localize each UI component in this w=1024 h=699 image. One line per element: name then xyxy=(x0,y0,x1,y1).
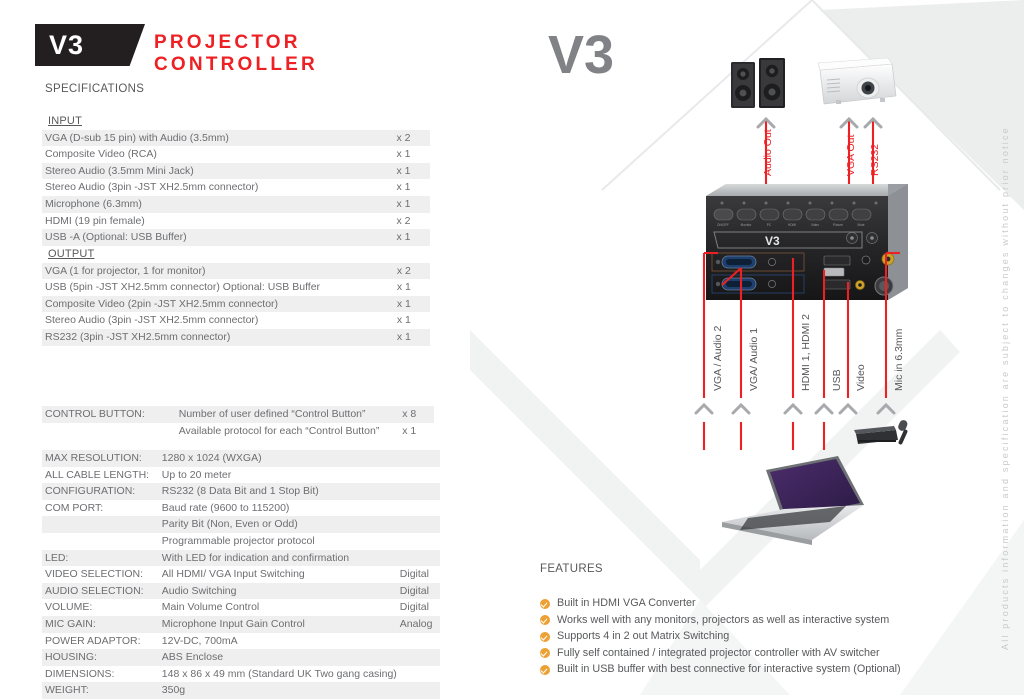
table-row: MAX RESOLUTION:1280 x 1024 (WXGA) xyxy=(42,450,440,467)
spec-quantity: x 1 xyxy=(394,179,431,196)
svg-text:HDMI: HDMI xyxy=(788,223,796,227)
spec-description: Microphone Input Gain Control xyxy=(159,616,397,633)
control-button-table: CONTROL BUTTON:Number of user defined “C… xyxy=(42,406,434,439)
table-row: VGA (1 for projector, 1 for monitor)x 2 xyxy=(42,263,430,280)
spec-description: Number of user defined “Control Button” xyxy=(176,406,400,423)
disclaimer-text: All products information and specificati… xyxy=(1000,126,1010,650)
check-icon xyxy=(540,648,550,658)
group-header-row: INPUT xyxy=(42,113,430,130)
table-row: CONTROL BUTTON:Number of user defined “C… xyxy=(42,406,434,423)
spec-key xyxy=(42,516,159,533)
table-row: Stereo Audio (3pin -JST XH2.5mm connecto… xyxy=(42,312,430,329)
spec-tag xyxy=(397,516,440,533)
feature-item: Built in USB buffer with best connective… xyxy=(540,661,1010,678)
group-header-row: OUTPUT xyxy=(42,246,430,263)
output-arrows xyxy=(758,119,881,127)
output-label-1: VGA Out xyxy=(845,135,857,176)
table-row: VGA (D-sub 15 pin) with Audio (3.5mm)x 2 xyxy=(42,130,430,147)
output-label-0: Audio Out xyxy=(762,129,774,176)
brand-logo: V3 PROJECTOR CONTROLLER xyxy=(35,24,435,66)
spec-quantity: x 1 xyxy=(394,163,431,180)
spec-tag: Analog xyxy=(397,616,440,633)
table-row: VIDEO SELECTION:All HDMI/ VGA Input Swit… xyxy=(42,566,440,583)
spec-tag xyxy=(397,550,440,567)
spec-description: VGA (1 for projector, 1 for monitor) xyxy=(42,263,394,280)
input-label-3: USB xyxy=(831,369,843,391)
product-title: PROJECTOR CONTROLLER xyxy=(154,32,435,76)
table-row: Stereo Audio (3pin -JST XH2.5mm connecto… xyxy=(42,179,430,196)
feature-item: Works well with any monitors, projectors… xyxy=(540,612,1010,629)
spec-description: Baud rate (9600 to 115200) xyxy=(159,500,397,517)
table-row: Composite Video (2pin -JST XH2.5mm conne… xyxy=(42,296,430,313)
laptop-icon xyxy=(722,456,864,560)
input-label-5: Mic in 6.3mm xyxy=(893,329,905,391)
group-label: OUTPUT xyxy=(45,248,94,261)
spec-quantity: x 1 xyxy=(394,279,430,296)
output-rows: OUTPUTVGA (1 for projector, 1 for monito… xyxy=(42,246,430,346)
spec-tag xyxy=(397,533,440,550)
spec-description: Available protocol for each “Control But… xyxy=(176,423,400,440)
check-icon xyxy=(540,615,550,625)
spec-description: USB -A (Optional: USB Buffer) xyxy=(42,229,394,246)
spec-description: RS232 (3pin -JST XH2.5mm connector) xyxy=(42,329,394,346)
spec-description: All HDMI/ VGA Input Switching xyxy=(159,566,397,583)
spec-key: WEIGHT: xyxy=(42,682,159,699)
spec-tag xyxy=(397,500,440,517)
spec-description: Composite Video (RCA) xyxy=(42,146,394,163)
spec-key: DIMENSIONS: xyxy=(42,666,159,683)
spec-description: Up to 20 meter xyxy=(159,467,397,484)
output-label-2: RS232 xyxy=(869,144,881,176)
spec-description: With LED for indication and confirmation xyxy=(159,550,397,567)
spec-tag xyxy=(397,467,440,484)
table-row: MIC GAIN:Microphone Input Gain ControlAn… xyxy=(42,616,440,633)
spec-description: Microphone (6.3mm) xyxy=(42,196,394,213)
table-row: Programmable projector protocol xyxy=(42,533,440,550)
general-rows: MAX RESOLUTION:1280 x 1024 (WXGA)ALL CAB… xyxy=(42,450,440,699)
spec-description: 12V-DC, 700mA xyxy=(159,633,397,650)
spec-quantity: x 1 xyxy=(394,296,430,313)
spec-description: VGA (D-sub 15 pin) with Audio (3.5mm) xyxy=(42,130,394,147)
spec-key: COM PORT: xyxy=(42,500,159,517)
specifications-column: V3 PROJECTOR CONTROLLER SPECIFICATIONS I… xyxy=(0,0,470,695)
general-spec-table: MAX RESOLUTION:1280 x 1024 (WXGA)ALL CAB… xyxy=(42,450,440,699)
table-row: Microphone (6.3mm)x 1 xyxy=(42,196,430,213)
control-rows: CONTROL BUTTON:Number of user defined “C… xyxy=(42,406,434,439)
spec-quantity: x 1 xyxy=(394,229,431,246)
table-row: HDMI (19 pin female)x 2 xyxy=(42,213,430,230)
table-row: DIMENSIONS:148 x 86 x 49 mm (Standard UK… xyxy=(42,666,440,683)
input-label-0: VGA / Audio 2 xyxy=(712,326,724,391)
spec-description: ABS Enclose xyxy=(159,649,397,666)
logo-badge: V3 xyxy=(35,24,145,66)
spec-key xyxy=(42,533,159,550)
device-logo-text: V3 xyxy=(765,234,780,248)
connection-diagram: ON/OFFMonitor PCHDMI VideoPicture Mute V… xyxy=(470,0,990,560)
spec-tag xyxy=(397,649,440,666)
check-icon xyxy=(540,599,550,609)
spec-description: USB (5pin -JST XH2.5mm connector) Option… xyxy=(42,279,394,296)
spec-quantity: x 8 xyxy=(399,406,434,423)
svg-text:Video: Video xyxy=(811,223,819,227)
spec-tag xyxy=(397,666,440,683)
spec-description: RS232 (8 Data Bit and 1 Stop Bit) xyxy=(159,483,397,500)
features-list: Built in HDMI VGA ConverterWorks well wi… xyxy=(540,595,1010,678)
spec-tag xyxy=(397,682,440,699)
spec-quantity: x 1 xyxy=(394,329,430,346)
spec-key: CONFIGURATION: xyxy=(42,483,159,500)
table-row: USB (5pin -JST XH2.5mm connector) Option… xyxy=(42,279,430,296)
input-rows: INPUTVGA (D-sub 15 pin) with Audio (3.5m… xyxy=(42,113,430,246)
table-row: ALL CABLE LENGTH:Up to 20 meter xyxy=(42,467,440,484)
table-row: Composite Video (RCA)x 1 xyxy=(42,146,430,163)
spec-tag xyxy=(397,633,440,650)
spec-quantity: x 1 xyxy=(394,312,430,329)
table-row: Available protocol for each “Control But… xyxy=(42,423,434,440)
spec-quantity: x 1 xyxy=(399,423,434,440)
specifications-heading: SPECIFICATIONS xyxy=(45,83,144,95)
spec-key: MIC GAIN: xyxy=(42,616,159,633)
spec-key: MAX RESOLUTION: xyxy=(42,450,159,467)
table-row: AUDIO SELECTION:Audio SwitchingDigital xyxy=(42,583,440,600)
feature-item: Fully self contained / integrated projec… xyxy=(540,645,1010,662)
spec-key: POWER ADAPTOR: xyxy=(42,633,159,650)
table-row: WEIGHT:350g xyxy=(42,682,440,699)
svg-text:Monitor: Monitor xyxy=(741,223,753,227)
spec-description: Stereo Audio (3pin -JST XH2.5mm connecto… xyxy=(42,179,394,196)
feature-item: Supports 4 in 2 out Matrix Switching xyxy=(540,628,1010,645)
input-spec-table: INPUTVGA (D-sub 15 pin) with Audio (3.5m… xyxy=(42,113,430,246)
spec-key: VIDEO SELECTION: xyxy=(42,566,159,583)
spec-key: HOUSING: xyxy=(42,649,159,666)
microphone-icon xyxy=(897,419,909,445)
spec-description: Stereo Audio (3pin -JST XH2.5mm connecto… xyxy=(42,312,394,329)
feature-text: Supports 4 in 2 out Matrix Switching xyxy=(557,630,729,642)
spec-quantity: x 1 xyxy=(394,146,431,163)
svg-text:Mute: Mute xyxy=(857,223,864,227)
spec-tag: Digital xyxy=(397,583,440,600)
input-label-2: HDMI 1, HDMI 2 xyxy=(800,314,812,391)
spec-key: CONTROL BUTTON: xyxy=(42,406,176,423)
spec-key: VOLUME: xyxy=(42,599,159,616)
table-row: Parity Bit (Non, Even or Odd) xyxy=(42,516,440,533)
svg-text:PC: PC xyxy=(767,223,772,227)
logo-text: V3 xyxy=(49,30,84,61)
spec-description: 148 x 86 x 49 mm (Standard UK Two gang c… xyxy=(159,666,397,683)
input-connector-lines-lower xyxy=(704,422,824,450)
table-row: Stereo Audio (3.5mm Mini Jack)x 1 xyxy=(42,163,430,180)
spec-quantity: x 1 xyxy=(394,196,431,213)
check-icon xyxy=(540,665,550,675)
spec-description: HDMI (19 pin female) xyxy=(42,213,394,230)
feature-text: Built in USB buffer with best connective… xyxy=(557,663,901,675)
datasheet-page: V3 PROJECTOR CONTROLLER SPECIFICATIONS I… xyxy=(0,0,1024,695)
spec-description: 1280 x 1024 (WXGA) xyxy=(159,450,397,467)
feature-item: Built in HDMI VGA Converter xyxy=(540,595,1010,612)
input-arrows xyxy=(696,405,894,413)
input-label-4: Video xyxy=(855,364,867,391)
svg-text:Picture: Picture xyxy=(833,223,843,227)
table-row: POWER ADAPTOR:12V-DC, 700mA xyxy=(42,633,440,650)
spec-tag: Digital xyxy=(397,599,440,616)
feature-text: Built in HDMI VGA Converter xyxy=(557,597,696,609)
spec-description: 350g xyxy=(159,682,397,699)
table-row: VOLUME:Main Volume ControlDigital xyxy=(42,599,440,616)
input-label-1: VGA/ Audio 1 xyxy=(748,328,760,391)
spec-key: LED: xyxy=(42,550,159,567)
spec-description: Main Volume Control xyxy=(159,599,397,616)
group-label: INPUT xyxy=(45,115,82,128)
table-row: COM PORT:Baud rate (9600 to 115200) xyxy=(42,500,440,517)
speakers-icon xyxy=(731,58,785,108)
projector-icon xyxy=(818,58,896,104)
spec-key: AUDIO SELECTION: xyxy=(42,583,159,600)
table-row: HOUSING:ABS Enclose xyxy=(42,649,440,666)
spec-description: Audio Switching xyxy=(159,583,397,600)
table-row: CONFIGURATION:RS232 (8 Data Bit and 1 St… xyxy=(42,483,440,500)
spec-description: Stereo Audio (3.5mm Mini Jack) xyxy=(42,163,394,180)
media-player-icon xyxy=(854,426,898,444)
spec-quantity: x 2 xyxy=(394,213,431,230)
spec-description: Parity Bit (Non, Even or Odd) xyxy=(159,516,397,533)
table-row: USB -A (Optional: USB Buffer)x 1 xyxy=(42,229,430,246)
feature-text: Works well with any monitors, projectors… xyxy=(557,614,889,626)
spec-tag xyxy=(397,450,440,467)
spec-description: Programmable projector protocol xyxy=(159,533,397,550)
check-icon xyxy=(540,632,550,642)
spec-key xyxy=(42,423,176,440)
spec-quantity: x 2 xyxy=(394,263,430,280)
spec-quantity: x 2 xyxy=(394,130,431,147)
spec-tag xyxy=(397,483,440,500)
spec-description: Composite Video (2pin -JST XH2.5mm conne… xyxy=(42,296,394,313)
spec-tag: Digital xyxy=(397,566,440,583)
table-row: RS232 (3pin -JST XH2.5mm connector)x 1 xyxy=(42,329,430,346)
feature-text: Fully self contained / integrated projec… xyxy=(557,647,880,659)
projector-controller-device: ON/OFFMonitor PCHDMI VideoPicture Mute V… xyxy=(706,184,908,300)
output-spec-table: OUTPUTVGA (1 for projector, 1 for monito… xyxy=(42,246,430,346)
features-heading: FEATURES xyxy=(540,563,603,575)
table-row: LED:With LED for indication and confirma… xyxy=(42,550,440,567)
spec-key: ALL CABLE LENGTH: xyxy=(42,467,159,484)
svg-text:ON/OFF: ON/OFF xyxy=(717,223,729,227)
